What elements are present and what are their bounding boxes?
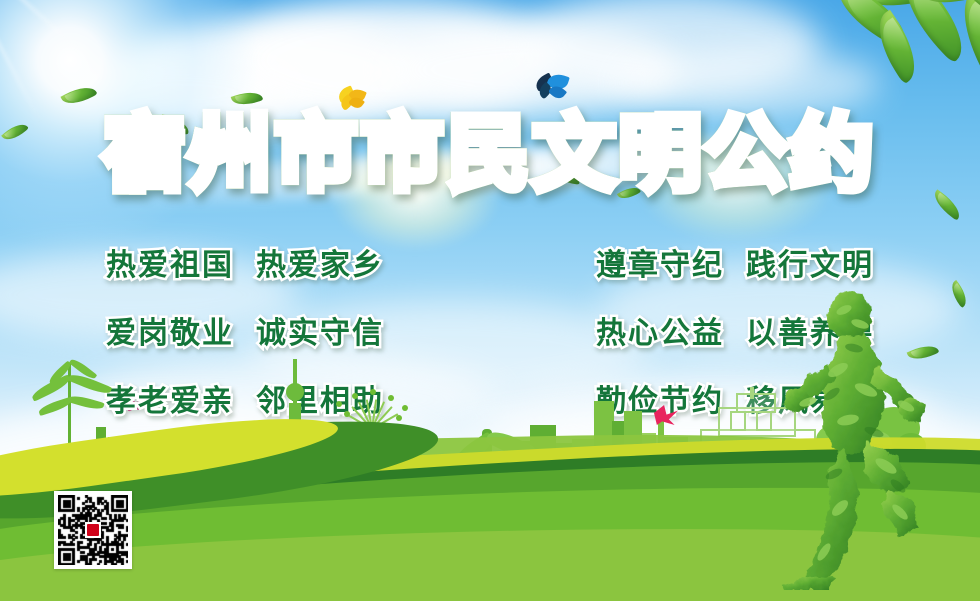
grass-tuft-icon <box>400 447 460 481</box>
slogan-text: 践行文明 <box>746 248 874 283</box>
ground-band-dark <box>0 430 980 562</box>
slogan-row2-right: 热心公益以善养德 <box>490 311 980 356</box>
bicycle-icon <box>200 417 310 481</box>
ground-band-front <box>0 474 980 601</box>
poster-canvas: 宿州市市民文明公约 热爱祖国热爱家乡 遵章守纪践行文明 爱岗敬业诚实守信 热心公… <box>0 0 980 601</box>
ground-band-mid <box>0 444 980 585</box>
tree-icon <box>812 423 868 483</box>
glow-highlight <box>640 130 830 240</box>
leaf-icon <box>159 114 191 135</box>
bush-icon <box>640 461 700 483</box>
slogan-row1-left: 热爱祖国热爱家乡 <box>0 243 490 288</box>
leaf-icon <box>60 81 97 110</box>
poster-title: 宿州市市民文明公约 <box>103 112 877 199</box>
ground-band-front2 <box>0 519 980 601</box>
leaf-icon <box>231 88 264 110</box>
glow-highlight <box>330 140 500 250</box>
sun-burst-icon <box>0 0 260 250</box>
slogan-text: 孝老爱亲 <box>106 384 234 419</box>
slogan-row2-left: 爱岗敬业诚实守信 <box>0 311 490 356</box>
slogan-text: 遵章守纪 <box>596 248 724 283</box>
flower-dot-icon <box>316 461 324 469</box>
flower-dot-icon <box>452 471 464 483</box>
leaf-icon <box>617 183 641 203</box>
leaf-icon <box>929 189 965 220</box>
slogan-row3-left: 孝老爱亲邻里相助 <box>0 379 490 424</box>
hill-band <box>0 427 980 568</box>
slogan-text: 以善养德 <box>746 316 874 351</box>
butterfly-icon <box>535 74 569 100</box>
slogan-text: 热心公益 <box>596 316 724 351</box>
slogan-text: 热爱家乡 <box>256 248 384 283</box>
light-streak <box>120 130 881 206</box>
ground-band-yellow <box>0 422 980 539</box>
slogan-text: 热爱祖国 <box>106 248 234 283</box>
shrub-icon <box>452 419 530 481</box>
qr-code[interactable] <box>54 491 132 569</box>
slogan-row3-right: 勤俭节约移风易俗 <box>490 379 980 424</box>
flower-dot-icon <box>520 466 529 475</box>
slogan-text: 爱岗敬业 <box>106 316 234 351</box>
sunflower-icon <box>820 457 840 477</box>
slogan-text: 移风易俗 <box>746 384 874 419</box>
leaf-cluster-icon <box>800 0 980 140</box>
slogan-text: 邻里相助 <box>256 384 384 419</box>
leaf-icon <box>1 119 29 145</box>
butterfly-icon <box>338 88 366 110</box>
ground-band-yellow2 <box>0 488 980 595</box>
bush-icon <box>740 457 860 483</box>
red-seal-logo <box>85 522 101 538</box>
leaf-icon <box>555 170 580 184</box>
poster-title-area: 宿州市市民文明公约 <box>0 112 980 199</box>
slogan-grid: 热爱祖国热爱家乡 遵章守纪践行文明 爱岗敬业诚实守信 热心公益以善养德 孝老爱亲… <box>0 243 980 424</box>
slogan-text: 诚实守信 <box>256 316 384 351</box>
flower-dot-icon <box>66 467 78 479</box>
slogan-text: 勤俭节约 <box>596 384 724 419</box>
slogan-row1-right: 遵章守纪践行文明 <box>490 243 980 288</box>
